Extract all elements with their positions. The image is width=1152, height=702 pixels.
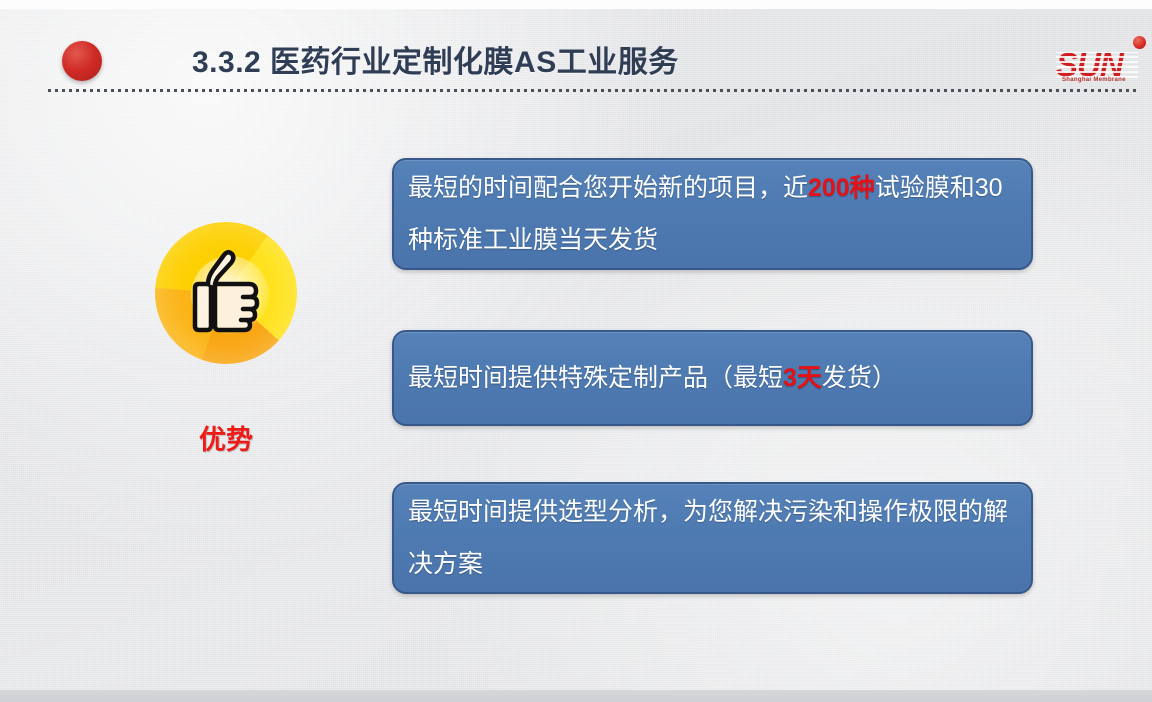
company-logo: SUN Shanghai Membrane [1056, 30, 1148, 88]
page-title: 3.3.2 医药行业定制化膜AS工业服务 [192, 37, 679, 81]
top-band [0, 0, 1152, 9]
thumbs-up-icon [181, 244, 277, 340]
callout-1-segment-plain-a: 最短的时间配合您开始新的项目，近 [408, 174, 808, 202]
bottom-band [0, 690, 1152, 702]
callout-text-3: 最短时间提供选型分析，为您解决污染和操作极限的解决方案 [408, 486, 1017, 590]
advantage-badge [155, 222, 297, 364]
callout-2-segment-plain-a: 最短时间提供特殊定制产品（最短 [408, 364, 783, 392]
slide: 3.3.2 医药行业定制化膜AS工业服务 SUN Shanghai Membra… [0, 0, 1152, 702]
logo-subtitle: Shanghai Membrane [1062, 77, 1126, 83]
callout-text-2: 最短时间提供特殊定制产品（最短3天发货） [408, 352, 897, 404]
callout-box-1: 最短的时间配合您开始新的项目，近200种试验膜和30种标准工业膜当天发货 [392, 158, 1033, 270]
advantage-label: 优势 [155, 418, 297, 457]
callout-2-segment-plain-b: 发货） [822, 364, 897, 392]
logo-dot-icon [1133, 36, 1146, 49]
callout-box-3: 最短时间提供选型分析，为您解决污染和操作极限的解决方案 [392, 482, 1033, 594]
callout-1-highlight: 200种 [808, 174, 875, 202]
red-dot-icon [62, 41, 102, 81]
callout-box-2: 最短时间提供特殊定制产品（最短3天发货） [392, 330, 1033, 426]
callout-2-highlight: 3天 [783, 364, 822, 392]
callout-text-1: 最短的时间配合您开始新的项目，近200种试验膜和30种标准工业膜当天发货 [408, 162, 1017, 266]
header-divider [48, 89, 1140, 92]
